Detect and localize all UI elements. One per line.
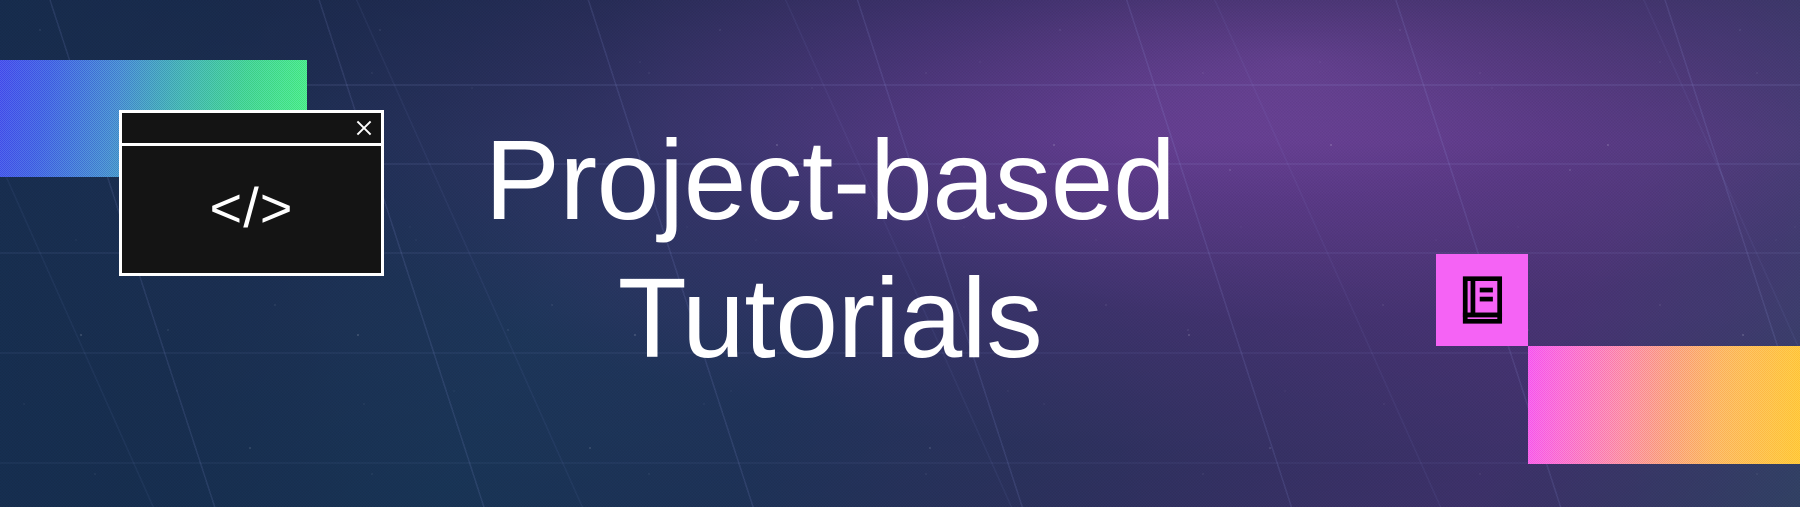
close-icon[interactable] bbox=[355, 119, 373, 137]
banner-hero: </> Project-based Tutorials bbox=[0, 0, 1800, 507]
page-title-line-2: Tutorials bbox=[470, 250, 1190, 388]
page-title-line-1: Project-based bbox=[470, 112, 1190, 250]
code-window[interactable]: </> bbox=[119, 110, 384, 276]
code-window-titlebar bbox=[122, 113, 381, 146]
code-window-body: </> bbox=[122, 146, 381, 273]
gradient-block-grain-texture bbox=[1528, 346, 1800, 464]
book-icon-tile bbox=[1436, 254, 1528, 346]
code-brackets-icon: </> bbox=[210, 180, 294, 236]
pink-yellow-gradient-bar bbox=[1528, 346, 1800, 464]
page-title: Project-based Tutorials bbox=[470, 112, 1190, 388]
book-icon bbox=[1453, 271, 1511, 329]
